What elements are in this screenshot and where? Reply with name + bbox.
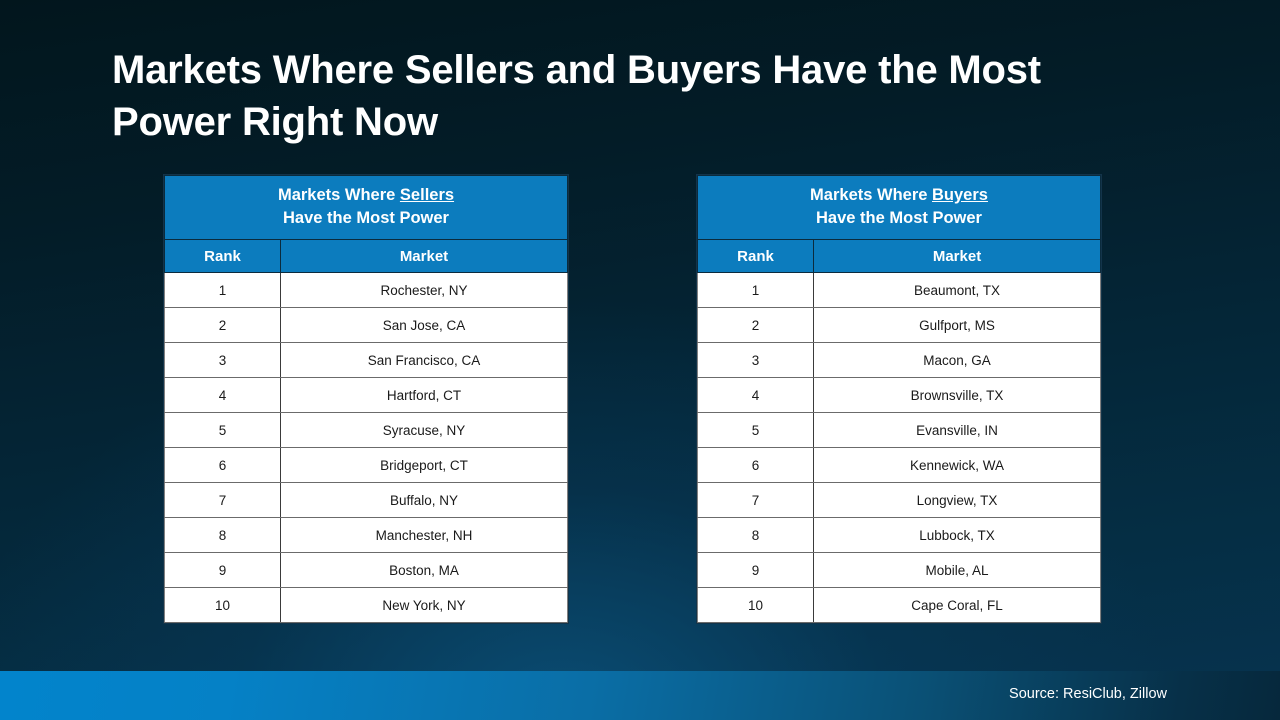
sellers-col-header-rank: Rank [165,240,281,273]
buyers-market-10: Cape Coral, FL [814,588,1101,623]
table-row: 7 Buffalo, NY [165,483,568,518]
buyers-table-body: 1 Beaumont, TX 2 Gulfport, MS 3 Macon, G… [698,273,1101,623]
table-row: 1 Rochester, NY [165,273,568,308]
page-title: Markets Where Sellers and Buyers Have th… [112,44,1172,148]
sellers-rank-2: 2 [165,308,281,343]
sellers-table-title: Markets Where Sellers Have the Most Powe… [165,176,568,240]
sellers-title-emphasis: Sellers [400,186,454,204]
buyers-table-container: Markets Where Buyers Have the Most Power… [697,175,1100,623]
buyers-market-1: Beaumont, TX [814,273,1101,308]
sellers-table-body: 1 Rochester, NY 2 San Jose, CA 3 San Fra… [165,273,568,623]
table-row: 8 Manchester, NH [165,518,568,553]
source-attribution: Source: ResiClub, Zillow [1009,685,1167,703]
buyers-rank-10: 10 [698,588,814,623]
sellers-rank-1: 1 [165,273,281,308]
buyers-market-2: Gulfport, MS [814,308,1101,343]
buyers-rank-5: 5 [698,413,814,448]
table-row: 1 Beaumont, TX [698,273,1101,308]
buyers-col-header-market: Market [814,240,1101,273]
buyers-rank-7: 7 [698,483,814,518]
buyers-title-prefix: Markets Where [810,186,932,204]
buyers-column-header-row: Rank Market [698,240,1101,273]
table-row: 3 San Francisco, CA [165,343,568,378]
sellers-rank-table: Markets Where Sellers Have the Most Powe… [164,175,568,623]
buyers-col-header-rank: Rank [698,240,814,273]
buyers-title-emphasis: Buyers [932,186,988,204]
buyers-market-3: Macon, GA [814,343,1101,378]
sellers-market-10: New York, NY [281,588,568,623]
slide-canvas: Markets Where Sellers and Buyers Have th… [0,0,1280,720]
table-row: 2 Gulfport, MS [698,308,1101,343]
buyers-rank-8: 8 [698,518,814,553]
sellers-table-container: Markets Where Sellers Have the Most Powe… [164,175,567,623]
buyers-table-title: Markets Where Buyers Have the Most Power [698,176,1101,240]
sellers-rank-3: 3 [165,343,281,378]
buyers-market-5: Evansville, IN [814,413,1101,448]
table-row: 2 San Jose, CA [165,308,568,343]
buyers-rank-4: 4 [698,378,814,413]
buyers-rank-2: 2 [698,308,814,343]
buyers-market-7: Longview, TX [814,483,1101,518]
sellers-market-9: Boston, MA [281,553,568,588]
sellers-rank-5: 5 [165,413,281,448]
table-row: 3 Macon, GA [698,343,1101,378]
buyers-rank-3: 3 [698,343,814,378]
sellers-market-8: Manchester, NH [281,518,568,553]
table-row: 7 Longview, TX [698,483,1101,518]
buyers-rank-9: 9 [698,553,814,588]
sellers-title-line2: Have the Most Power [283,209,449,227]
sellers-column-header-row: Rank Market [165,240,568,273]
buyers-market-8: Lubbock, TX [814,518,1101,553]
sellers-rank-8: 8 [165,518,281,553]
buyers-table-title-row: Markets Where Buyers Have the Most Power [698,176,1101,240]
buyers-title-line2: Have the Most Power [816,209,982,227]
sellers-market-6: Bridgeport, CT [281,448,568,483]
table-row: 10 New York, NY [165,588,568,623]
buyers-market-6: Kennewick, WA [814,448,1101,483]
sellers-market-7: Buffalo, NY [281,483,568,518]
sellers-col-header-market: Market [281,240,568,273]
table-row: 10 Cape Coral, FL [698,588,1101,623]
table-row: 8 Lubbock, TX [698,518,1101,553]
table-row: 9 Mobile, AL [698,553,1101,588]
sellers-rank-9: 9 [165,553,281,588]
sellers-rank-4: 4 [165,378,281,413]
table-row: 5 Evansville, IN [698,413,1101,448]
table-row: 6 Kennewick, WA [698,448,1101,483]
table-row: 4 Brownsville, TX [698,378,1101,413]
sellers-market-3: San Francisco, CA [281,343,568,378]
sellers-table-title-row: Markets Where Sellers Have the Most Powe… [165,176,568,240]
sellers-title-prefix: Markets Where [278,186,400,204]
buyers-rank-table: Markets Where Buyers Have the Most Power… [697,175,1101,623]
sellers-market-1: Rochester, NY [281,273,568,308]
table-row: 6 Bridgeport, CT [165,448,568,483]
sellers-rank-7: 7 [165,483,281,518]
sellers-rank-10: 10 [165,588,281,623]
sellers-market-2: San Jose, CA [281,308,568,343]
table-row: 4 Hartford, CT [165,378,568,413]
sellers-market-4: Hartford, CT [281,378,568,413]
table-row: 5 Syracuse, NY [165,413,568,448]
buyers-market-4: Brownsville, TX [814,378,1101,413]
buyers-rank-6: 6 [698,448,814,483]
sellers-market-5: Syracuse, NY [281,413,568,448]
sellers-rank-6: 6 [165,448,281,483]
table-row: 9 Boston, MA [165,553,568,588]
buyers-market-9: Mobile, AL [814,553,1101,588]
buyers-rank-1: 1 [698,273,814,308]
